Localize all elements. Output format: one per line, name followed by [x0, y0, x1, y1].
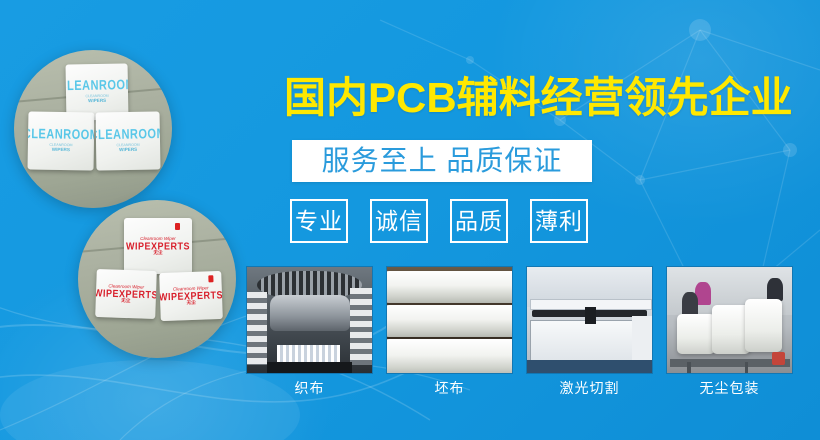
- pack-sub-label: CLEANROOM: [85, 93, 108, 99]
- wipexperts-pack: Cleanroom Wiper WIPEXPERTS 无尘: [159, 271, 223, 321]
- gallery-caption-laser-cutting: 激光切割: [526, 374, 653, 402]
- cleanroom-pack: CLEANROOM CLEANROOM WIPERS: [27, 111, 94, 170]
- wipexperts-pack: Cleanroom Wiper WIPEXPERTS 无尘: [95, 269, 157, 319]
- pack-brand-label: WIPEXPERTS: [159, 290, 223, 303]
- gallery-item-weaving[interactable]: 织布: [246, 266, 373, 402]
- pack-brand-label: CLEANROOM: [27, 127, 94, 142]
- process-gallery: 织布 坯布 激光切割: [246, 266, 793, 402]
- pack-sub2-label: WIPERS: [88, 99, 106, 104]
- feature-tag-baoli[interactable]: 薄利: [530, 199, 588, 243]
- pack-brand-label: WIPEXPERTS: [95, 288, 157, 301]
- pack-sub-label: CLEANROOM: [116, 142, 139, 148]
- red-mark-icon: [175, 223, 180, 230]
- promo-banner: CLEANROOM CLEANROOM WIPERS CLEANROOM CLE…: [0, 0, 820, 440]
- wipexperts-pack: Cleanroom Wiper WIPEXPERTS 无尘: [124, 218, 192, 274]
- feature-tag-pinzhi[interactable]: 品质: [450, 199, 508, 243]
- feature-tag-chengxin[interactable]: 诚信: [370, 199, 428, 243]
- product-photo-cleanroom-wipes: CLEANROOM CLEANROOM WIPERS CLEANROOM CLE…: [14, 50, 172, 208]
- gallery-photo-laser-cutting[interactable]: [526, 266, 653, 374]
- product-photo-wipexperts: Cleanroom Wiper WIPEXPERTS 无尘 Cleanroom …: [78, 200, 236, 358]
- gallery-caption-greige-fabric: 坯布: [386, 374, 513, 402]
- banner-headline: 国内PCB辅料经营领先企业: [284, 74, 794, 122]
- gallery-photo-cleanroom-packing[interactable]: [666, 266, 793, 374]
- pack-brand-label: CLEANROOM: [95, 127, 160, 142]
- gallery-caption-weaving: 织布: [246, 374, 373, 402]
- pack-sub2-label: WIPERS: [52, 148, 70, 153]
- gallery-photo-weaving[interactable]: [246, 266, 373, 374]
- pack-brand-label: WIPEXPERTS: [126, 241, 190, 251]
- gallery-photo-greige-fabric[interactable]: [386, 266, 513, 374]
- pack-sub2-label: WIPERS: [119, 148, 137, 153]
- pack-brand-label: CLEANROOM: [66, 78, 129, 93]
- banner-subtitle: 服务至上 品质保证: [322, 147, 563, 175]
- gallery-caption-cleanroom-packing: 无尘包装: [666, 374, 793, 402]
- gallery-item-cleanroom-packing[interactable]: 无尘包装: [666, 266, 793, 402]
- feature-tag-zhuanye[interactable]: 专业: [290, 199, 348, 243]
- cleanroom-pack: CLEANROOM CLEANROOM WIPERS: [95, 111, 160, 170]
- pack-sub-label: CLEANROOM: [49, 142, 72, 148]
- banner-subtitle-box: 服务至上 品质保证: [292, 140, 592, 182]
- gallery-item-greige-fabric[interactable]: 坯布: [386, 266, 513, 402]
- gallery-item-laser-cutting[interactable]: 激光切割: [526, 266, 653, 402]
- red-mark-icon: [208, 275, 213, 282]
- feature-tag-list: 专业 诚信 品质 薄利: [290, 199, 588, 243]
